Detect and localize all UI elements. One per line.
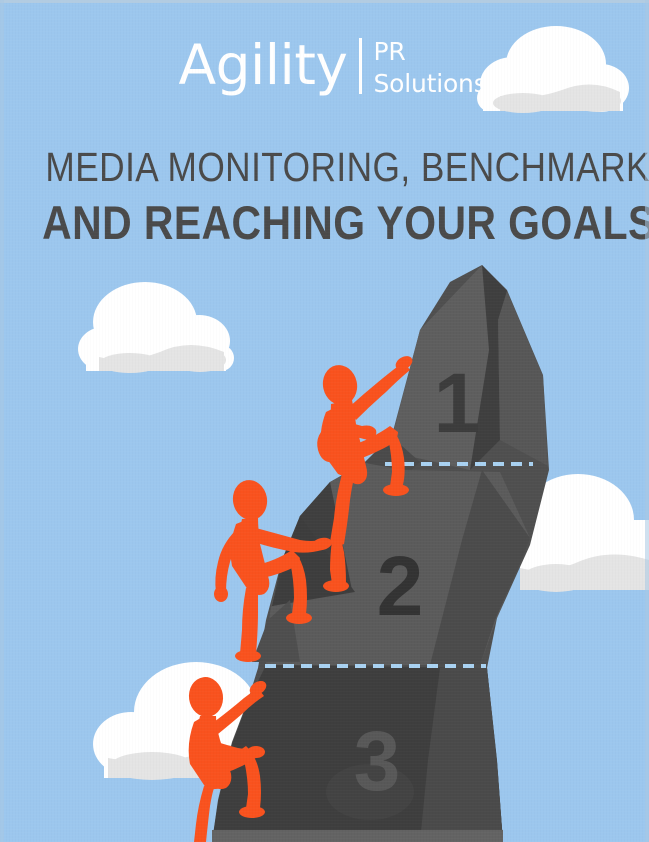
stage-number-1: 1	[434, 356, 481, 450]
cover-page: 1 2 3	[0, 0, 649, 842]
stage-number-3: 3	[354, 714, 401, 808]
page-edge-right	[645, 0, 649, 842]
cover-illustration: 1 2 3	[0, 0, 649, 842]
page-edge-left	[0, 0, 4, 842]
stage-number-2: 2	[377, 539, 424, 633]
mountain-base-strip	[212, 830, 503, 842]
page-edge-top	[0, 0, 649, 3]
illustration-artboard: 1 2 3	[0, 0, 649, 842]
